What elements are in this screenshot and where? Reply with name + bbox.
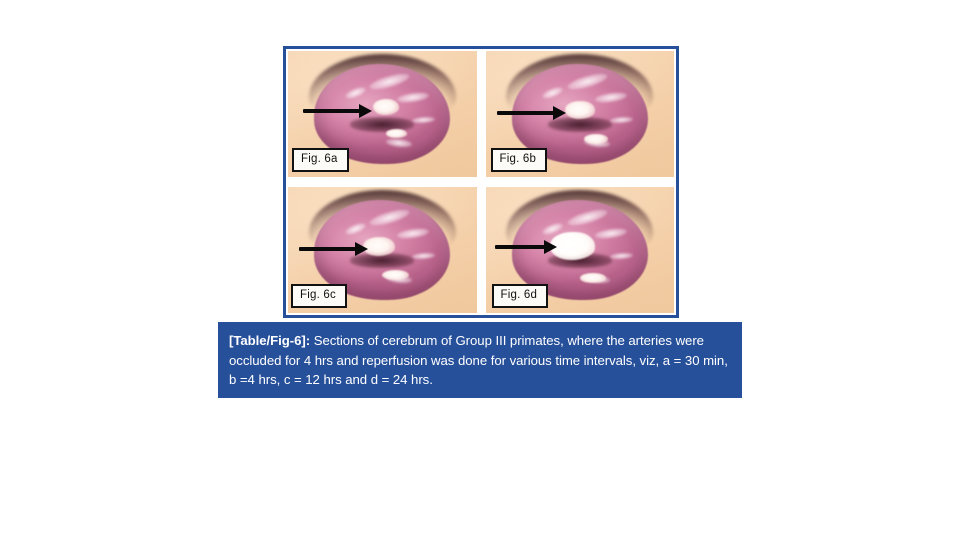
figure-caption-bar: [Table/Fig-6]: Sections of cerebrum of G…: [218, 322, 742, 398]
figure-caption-text: [Table/Fig-6]: Sections of cerebrum of G…: [229, 331, 728, 390]
figure-tag-6a: Fig. 6a: [292, 148, 349, 173]
caption-lead-label: [Table/Fig-6]:: [229, 333, 310, 348]
figure-cell-6c: Fig. 6c: [288, 187, 477, 313]
figure-cell-6b: Fig. 6b: [486, 51, 675, 177]
figure-tag-6c: Fig. 6c: [291, 284, 347, 309]
pointer-arrow-icon-6b: [497, 106, 572, 120]
figure-cell-6a: Fig. 6a: [288, 51, 477, 177]
figure-panel-grid: Fig. 6a Fig. 6b: [288, 51, 674, 313]
figure-tag-6b: Fig. 6b: [491, 148, 548, 173]
infarct-lesion-secondary: [386, 129, 407, 138]
figure-cell-6d: Fig. 6d: [486, 187, 675, 313]
figure-tag-6d: Fig. 6d: [492, 284, 549, 309]
midline-fissure: [350, 117, 414, 132]
infarct-lesion-secondary: [382, 270, 408, 280]
pointer-arrow-icon-6c: [299, 242, 374, 256]
infarct-lesion-secondary: [580, 273, 606, 283]
pointer-arrow-icon-6a: [303, 104, 378, 118]
figure-panel: Fig. 6a Fig. 6b: [283, 46, 679, 318]
pointer-arrow-icon-6d: [495, 240, 563, 254]
